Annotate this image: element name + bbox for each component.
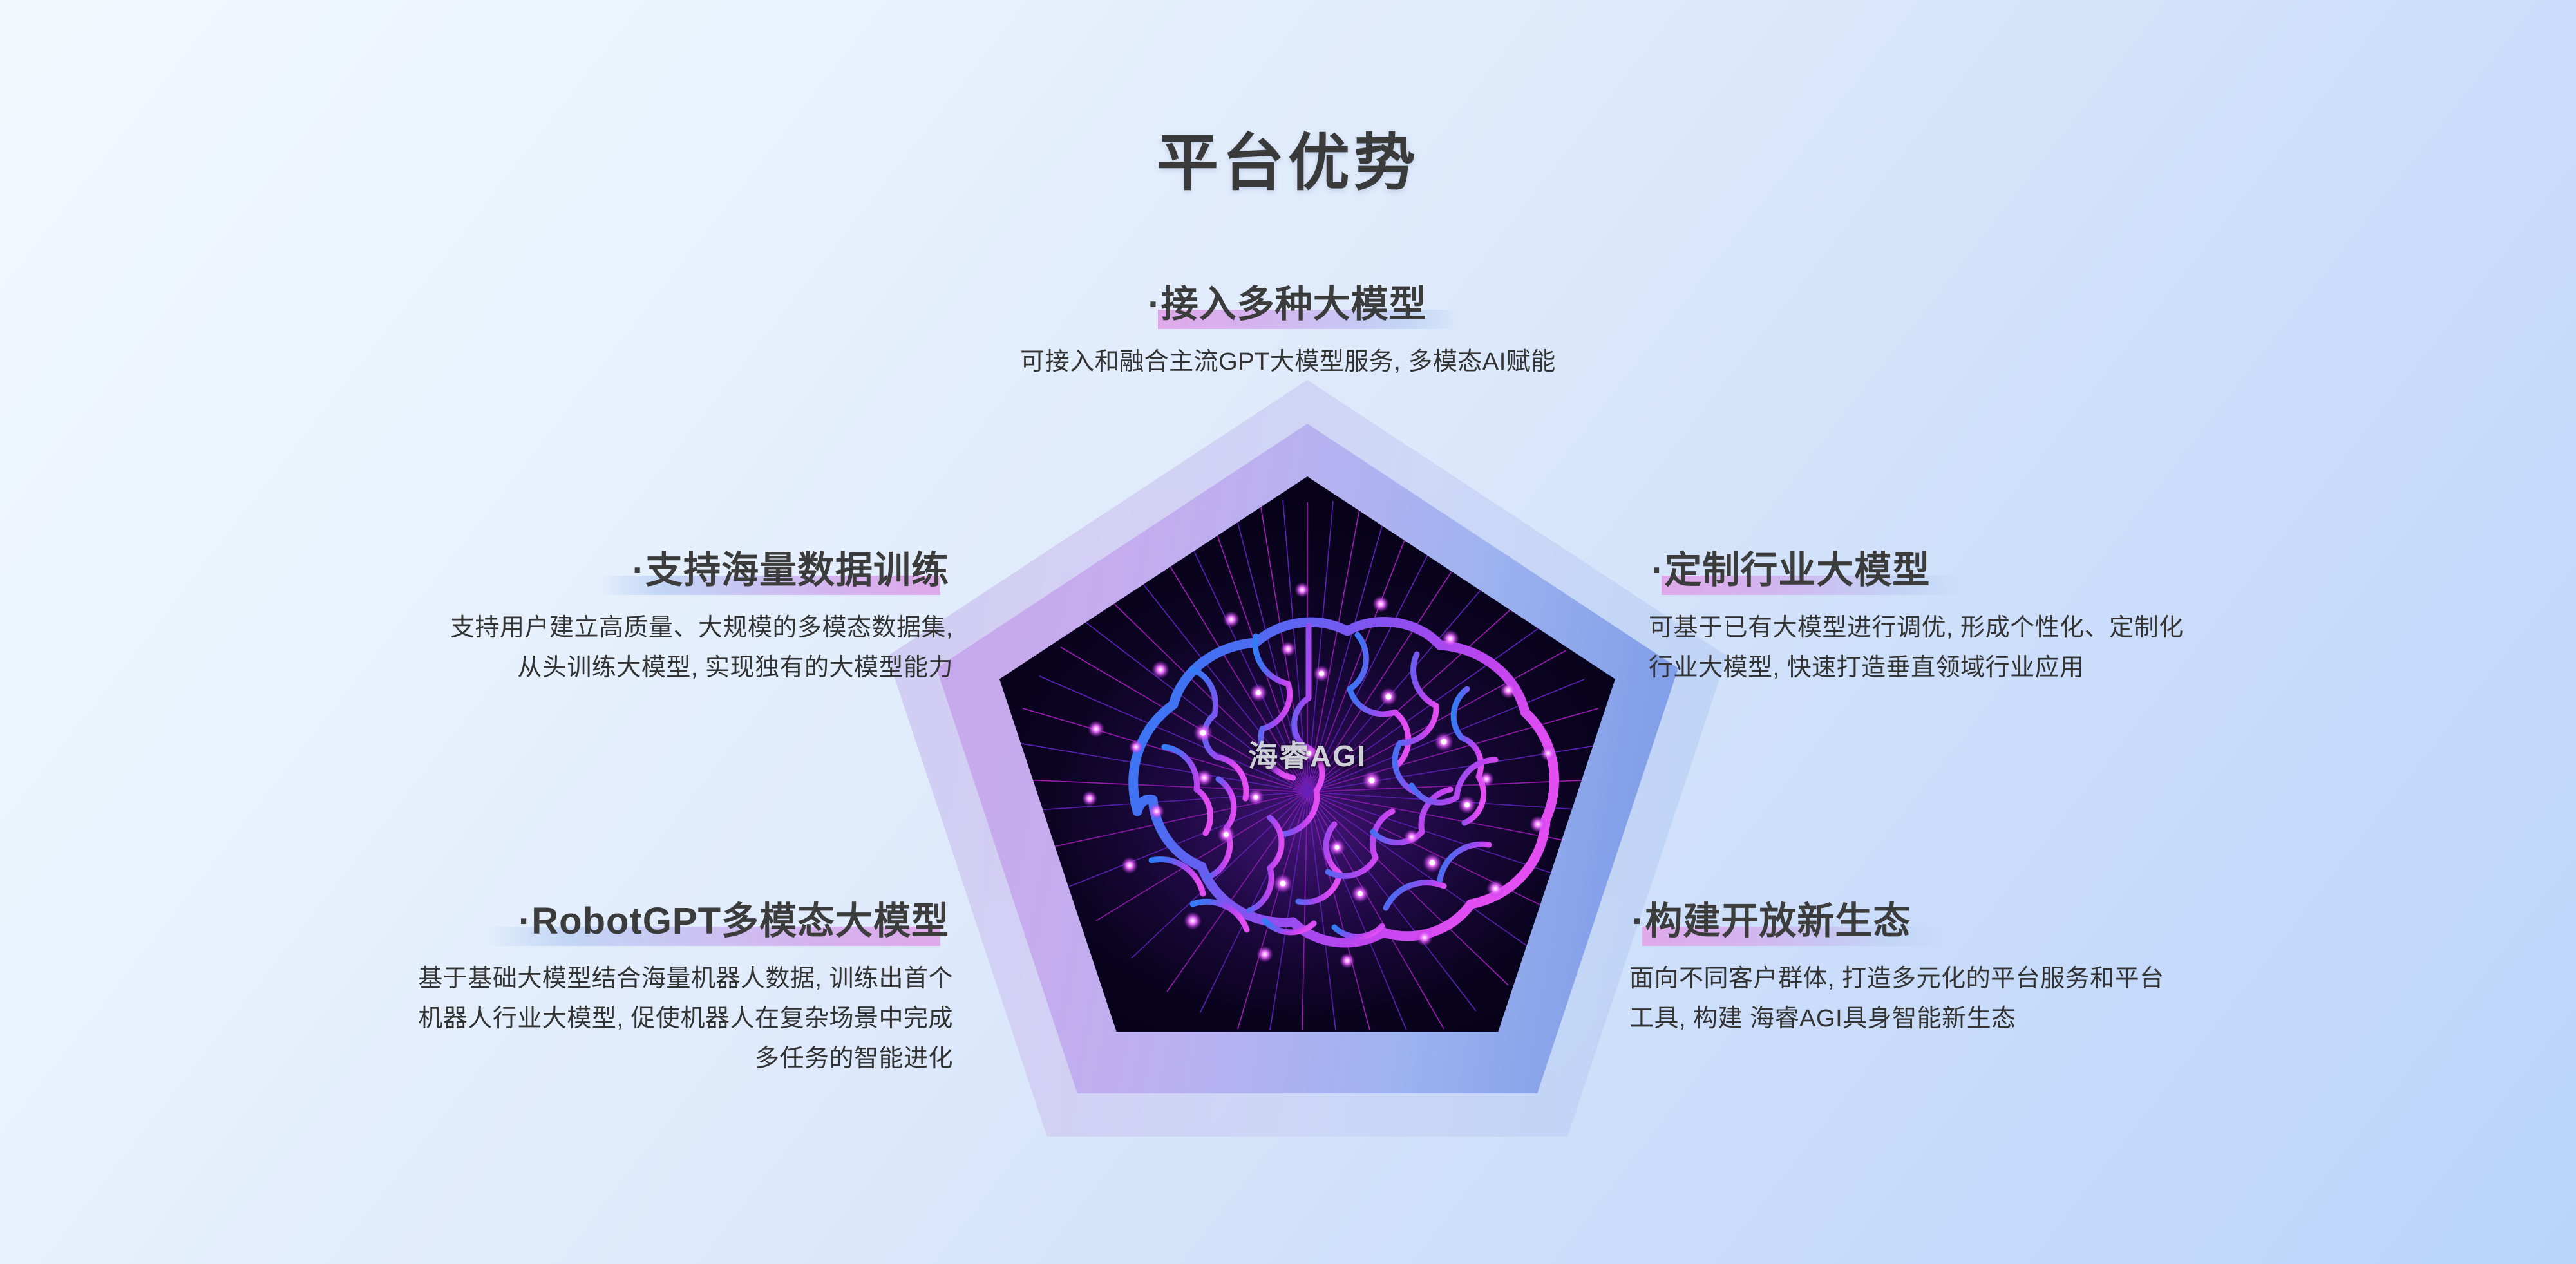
feature-description: 可基于已有大模型进行调优, 形成个性化、定制化 行业大模型, 快速打造垂直领域行… [1649,608,2473,688]
bullet-dot: · [1632,900,1645,942]
bullet-dot: · [518,900,531,942]
feature-heading: ·构建开放新生态 [1629,891,1915,947]
feature-heading-text: 构建开放新生态 [1645,900,1911,942]
desc-line: 工具, 构建 海睿AGI具身智能新生态 [1629,999,2467,1039]
feature-description: 基于基础大模型结合海量机器人数据, 训练出首个 机器人行业大模型, 促使机器人在… [148,959,953,1079]
feature-open-ecosystem: ·构建开放新生态 面向不同客户群体, 打造多元化的平台服务和平台 工具, 构建 … [1629,891,2467,1039]
feature-custom-industry-model: ·定制行业大模型 可基于已有大模型进行调优, 形成个性化、定制化 行业大模型, … [1649,540,2473,688]
desc-line: 面向不同客户群体, 打造多元化的平台服务和平台 [1629,959,2467,999]
brand-label: 海睿AGI [999,733,1615,775]
feature-multi-model-access: ·接入多种大模型 可接入和融合主流GPT大模型服务, 多模态AI赋能 [773,274,1803,382]
desc-line: 机器人行业大模型, 促使机器人在复杂场景中完成 [148,999,953,1039]
feature-heading: ·RobotGPT多模态大模型 [516,891,953,947]
feature-heading: ·接入多种大模型 [1145,274,1430,330]
desc-line: 可基于已有大模型进行调优, 形成个性化、定制化 [1649,608,2473,648]
feature-robotgpt-multimodal-model: ·RobotGPT多模态大模型 基于基础大模型结合海量机器人数据, 训练出首个 … [148,891,953,1079]
feature-description: 可接入和融合主流GPT大模型服务, 多模态AI赋能 [773,342,1803,382]
feature-heading-text: 定制行业大模型 [1664,549,1930,591]
feature-heading-text: 支持海量数据训练 [645,549,949,591]
bullet-dot: · [632,549,645,591]
desc-line: 支持用户建立高质量、大规模的多模态数据集, [161,608,953,648]
feature-heading: ·定制行业大模型 [1649,540,1934,596]
page-title: 平台优势 [0,113,2576,202]
bullet-dot: · [1148,283,1160,325]
feature-heading-text: 接入多种大模型 [1161,283,1427,325]
feature-description: 支持用户建立高质量、大规模的多模态数据集, 从头训练大模型, 实现独有的大模型能… [161,608,953,688]
desc-line: 多任务的智能进化 [148,1039,953,1079]
feature-heading: ·支持海量数据训练 [630,540,953,596]
feature-heading-text: RobotGPT多模态大模型 [531,900,949,942]
feature-description: 面向不同客户群体, 打造多元化的平台服务和平台 工具, 构建 海睿AGI具身智能… [1629,959,2467,1039]
desc-line: 行业大模型, 快速打造垂直领域行业应用 [1649,648,2473,688]
desc-line: 可接入和融合主流GPT大模型服务, 多模态AI赋能 [773,342,1803,382]
central-pentagon-graphic: 海睿AGI [887,380,1727,1137]
desc-line: 从头训练大模型, 实现独有的大模型能力 [161,648,953,688]
feature-massive-data-training: ·支持海量数据训练 支持用户建立高质量、大规模的多模态数据集, 从头训练大模型,… [161,540,953,688]
bullet-dot: · [1651,549,1664,591]
desc-line: 基于基础大模型结合海量机器人数据, 训练出首个 [148,959,953,999]
